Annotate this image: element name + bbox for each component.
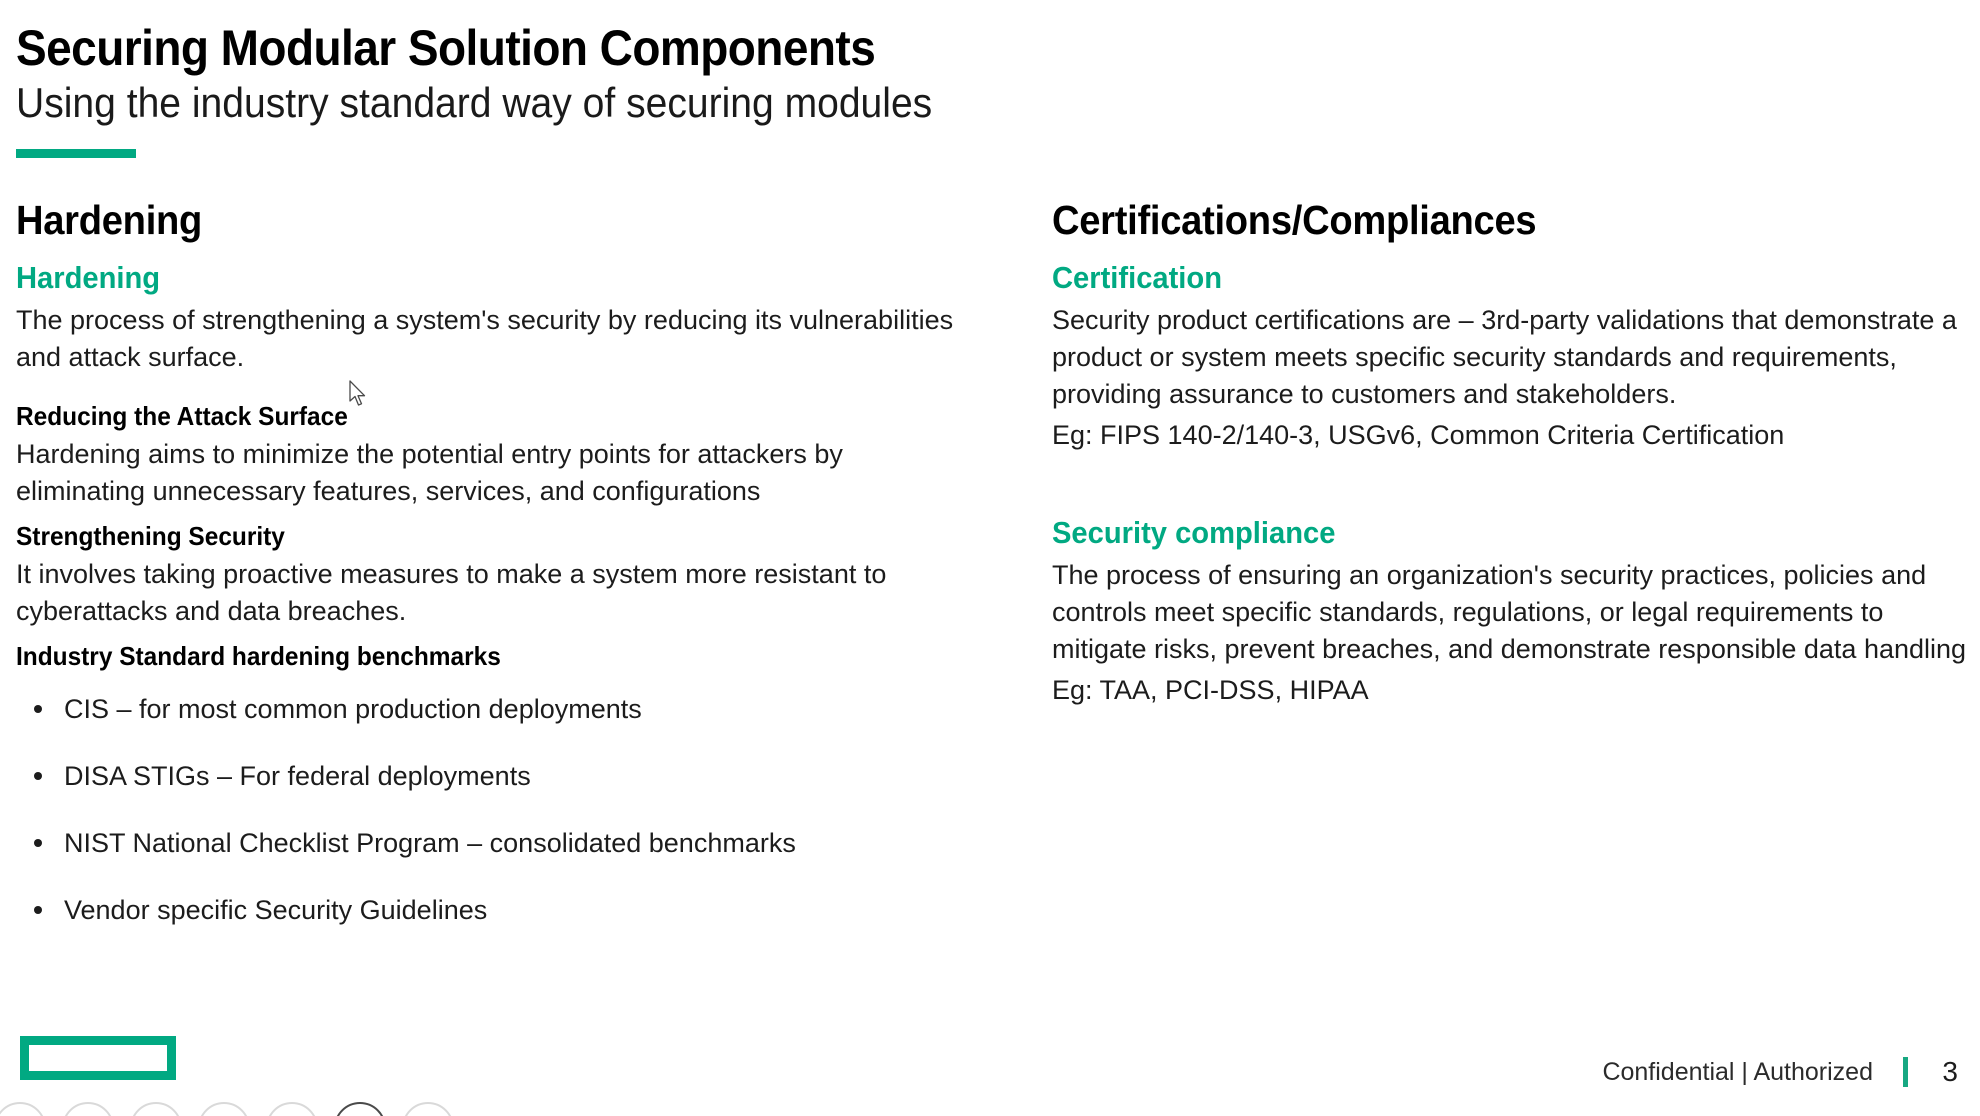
slide-subtitle: Using the industry standard way of secur… bbox=[16, 79, 1783, 127]
list-item-label: NIST National Checklist Program – consol… bbox=[64, 828, 796, 858]
slide-footer: Confidential | Authorized 3 bbox=[1602, 1056, 1958, 1088]
left-section-title-0: Reducing the Attack Surface bbox=[16, 402, 918, 432]
right-example-1: Eg: TAA, PCI-DSS, HIPAA bbox=[1052, 672, 1972, 709]
bullet-dot-icon bbox=[34, 839, 42, 847]
accent-bar bbox=[16, 149, 136, 158]
list-item-label: Vendor specific Security Guidelines bbox=[64, 895, 487, 925]
bullet-dot-icon bbox=[34, 705, 42, 713]
right-example-0: Eg: FIPS 140-2/140-3, USGv6, Common Crit… bbox=[1052, 417, 1972, 454]
bullet-dot-icon bbox=[34, 772, 42, 780]
video-camera-icon[interactable] bbox=[334, 1102, 386, 1116]
slide-header: Securing Modular Solution Components Usi… bbox=[16, 22, 1916, 158]
pen-icon[interactable] bbox=[62, 1102, 114, 1116]
more-options-icon[interactable] bbox=[402, 1102, 454, 1116]
list-item: DISA STIGs – For federal deployments bbox=[16, 760, 976, 794]
presentation-slide: Securing Modular Solution Components Usi… bbox=[0, 0, 1980, 1116]
confidentiality-label: Confidential | Authorized bbox=[1602, 1058, 1873, 1087]
list-item-label: CIS – for most common production deploym… bbox=[64, 694, 642, 724]
laser-pointer-icon[interactable] bbox=[198, 1102, 250, 1116]
blank-screen-icon[interactable] bbox=[266, 1102, 318, 1116]
slide-grid-icon[interactable] bbox=[130, 1102, 182, 1116]
left-section-body-0: Hardening aims to minimize the potential… bbox=[16, 436, 976, 510]
list-item: Vendor specific Security Guidelines bbox=[16, 894, 976, 928]
slide-title: Securing Modular Solution Components bbox=[16, 22, 1764, 75]
left-section-body-1: It involves taking proactive measures to… bbox=[16, 556, 976, 630]
presenter-toolbar[interactable] bbox=[0, 1102, 454, 1116]
left-intro-text: The process of strengthening a system's … bbox=[16, 302, 976, 376]
left-column: Hardening Hardening The process of stren… bbox=[16, 198, 976, 960]
benchmarks-list: CIS – for most common production deploym… bbox=[16, 693, 976, 927]
right-column-heading: Certifications/Compliances bbox=[1052, 198, 1908, 243]
left-column-heading: Hardening bbox=[16, 198, 909, 243]
left-section-title-1: Strengthening Security bbox=[16, 522, 918, 552]
right-column: Certifications/Compliances Certification… bbox=[1052, 198, 1972, 709]
right-body-0: Security product certifications are – 3r… bbox=[1052, 302, 1972, 413]
list-item: NIST National Checklist Program – consol… bbox=[16, 827, 976, 861]
list-item-label: DISA STIGs – For federal deployments bbox=[64, 761, 531, 791]
hpe-logo bbox=[20, 1036, 176, 1080]
play-icon[interactable] bbox=[0, 1102, 46, 1116]
benchmarks-title: Industry Standard hardening benchmarks bbox=[16, 642, 918, 672]
footer-separator bbox=[1903, 1057, 1908, 1087]
list-item: CIS – for most common production deploym… bbox=[16, 693, 976, 727]
right-green-subheading-1: Security compliance bbox=[1052, 516, 1917, 551]
right-green-subheading-0: Certification bbox=[1052, 261, 1917, 296]
page-number: 3 bbox=[1938, 1056, 1958, 1088]
right-body-1: The process of ensuring an organization'… bbox=[1052, 557, 1972, 668]
bullet-dot-icon bbox=[34, 906, 42, 914]
left-green-subheading: Hardening bbox=[16, 261, 918, 296]
